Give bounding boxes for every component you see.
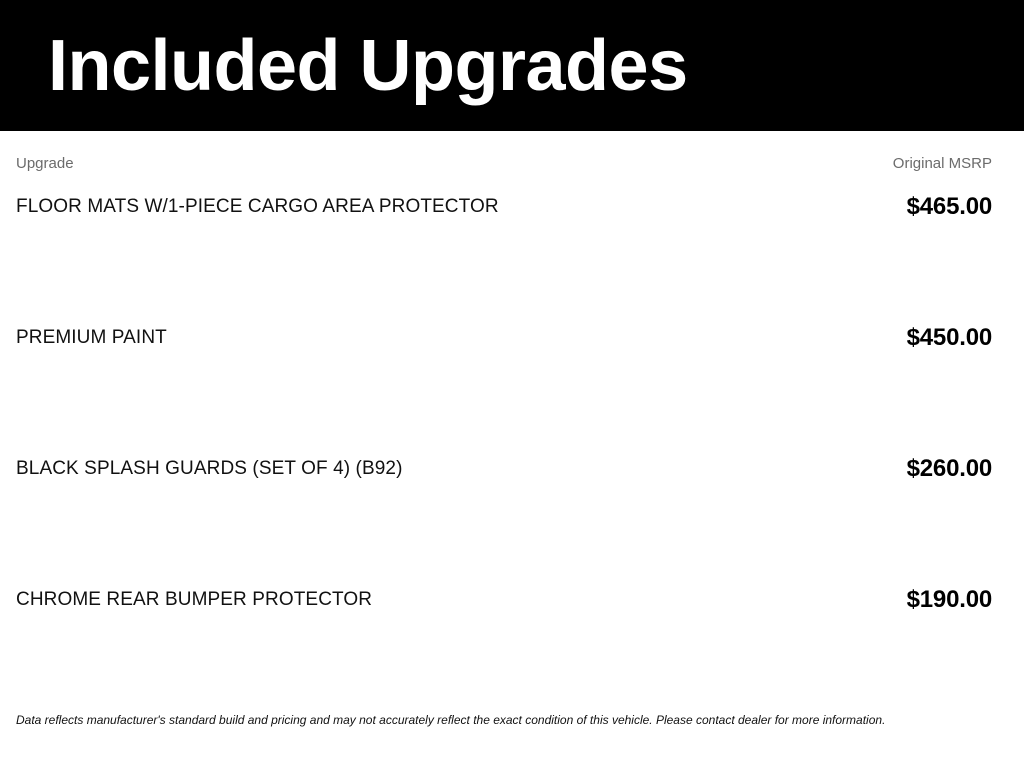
upgrade-price: $190.00	[907, 586, 992, 614]
column-header-original-msrp: Original MSRP	[893, 155, 992, 173]
upgrade-price: $450.00	[907, 324, 992, 352]
upgrade-price: $465.00	[907, 193, 992, 221]
upgrades-table: Upgrade Original MSRP FLOOR MATS W/1-PIE…	[0, 131, 1024, 768]
upgrade-name: CHROME REAR BUMPER PROTECTOR	[16, 586, 372, 612]
table-rows: FLOOR MATS W/1-PIECE CARGO AREA PROTECTO…	[16, 193, 992, 717]
upgrade-name: PREMIUM PAINT	[16, 324, 167, 350]
table-row: PREMIUM PAINT$450.00	[16, 324, 992, 455]
upgrade-price: $260.00	[907, 455, 992, 483]
upgrade-name: FLOOR MATS W/1-PIECE CARGO AREA PROTECTO…	[16, 193, 499, 219]
table-row: BLACK SPLASH GUARDS (SET OF 4) (B92)$260…	[16, 455, 992, 586]
upgrade-name: BLACK SPLASH GUARDS (SET OF 4) (B92)	[16, 455, 403, 481]
column-header-upgrade: Upgrade	[16, 155, 74, 173]
table-column-headers: Upgrade Original MSRP	[16, 131, 992, 193]
page-title: Included Upgrades	[48, 20, 688, 112]
table-row: CHROME REAR BUMPER PROTECTOR$190.00	[16, 586, 992, 717]
table-row: FLOOR MATS W/1-PIECE CARGO AREA PROTECTO…	[16, 193, 992, 324]
included-upgrades-page: Included Upgrades Upgrade Original MSRP …	[0, 0, 1024, 768]
disclaimer-text: Data reflects manufacturer's standard bu…	[16, 712, 1008, 728]
page-header-band: Included Upgrades	[0, 0, 1024, 131]
